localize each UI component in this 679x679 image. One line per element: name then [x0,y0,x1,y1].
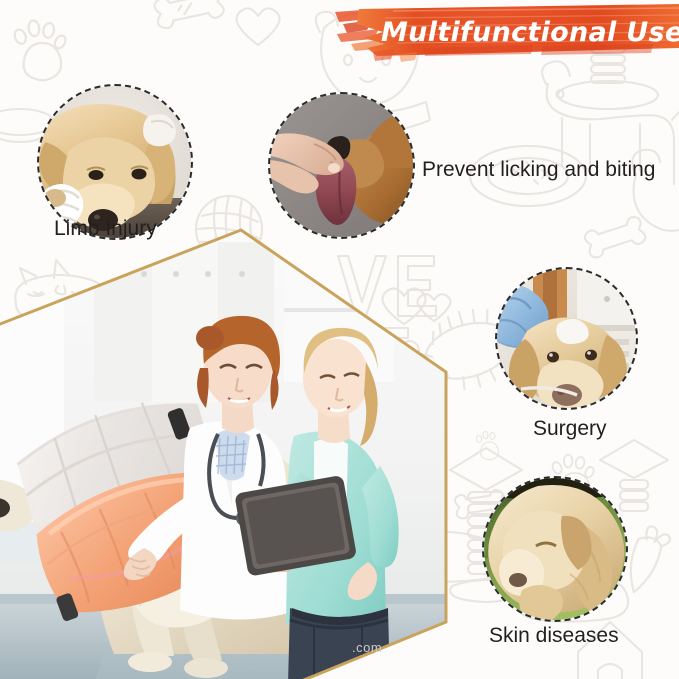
caption-skin-diseases: Skin diseases [489,624,619,648]
dog-in-surgery-icon [497,269,636,408]
infographic-canvas: Multifunctional Use [0,0,679,679]
feature-image-surgery [497,269,636,408]
title-banner: Multifunctional Use [333,4,679,62]
caption-surgery: Surgery [533,417,607,441]
dog-licking-hand-icon [270,94,413,237]
page-title: Multifunctional Use [381,14,679,54]
feature-image-skin-diseases [484,478,626,620]
feature-image-limb-injury [39,86,191,238]
dog-with-bandaged-paw-icon [39,86,191,238]
watermark: .com [352,640,382,655]
caption-prevent-licking-and-biting: Prevent licking and biting [422,158,655,182]
caption-limb-injury: Limb Injury [54,217,157,241]
dog-scratching-icon [484,478,626,620]
feature-image-prevent-licking-and-biting [270,94,413,237]
hero-product-photo [0,222,456,679]
